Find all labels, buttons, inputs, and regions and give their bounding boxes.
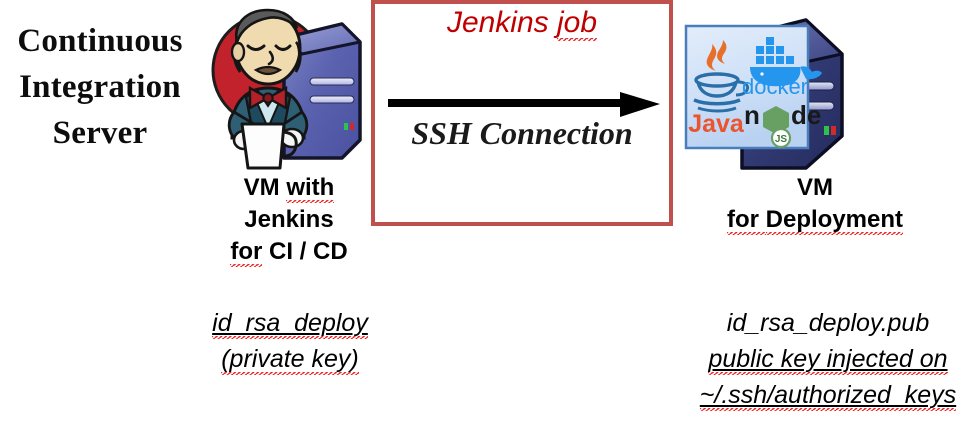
- ci-server-heading: Continuous Integration Server: [0, 18, 200, 156]
- caption-with-text: with: [286, 174, 334, 204]
- ci-heading-line-2: Integration: [0, 64, 200, 110]
- private-key-note-line-2: (private key): [165, 341, 415, 377]
- vm-jenkins-caption: VM with Jenkins for CI / CD: [198, 172, 380, 268]
- private-key-filename: id_rsa_deploy: [212, 309, 368, 340]
- docker-logo-label: docker: [742, 74, 808, 99]
- node-logo-label-n: n: [744, 100, 760, 130]
- ci-heading-line-3: Server: [0, 110, 200, 156]
- public-key-note-line-1: id_rsa_deploy.pub: [678, 305, 978, 341]
- vm-deploy-caption-line-1: VM: [690, 172, 940, 204]
- public-key-note-line-3: ~/.ssh/authorized_keys: [678, 377, 978, 413]
- vm-deployment-caption: VM for Deployment: [690, 172, 940, 236]
- diagram-canvas: Continuous Integration Server: [0, 0, 978, 435]
- caption-vm-text: VM: [244, 174, 287, 201]
- caption-for-text: for: [230, 238, 262, 268]
- private-key-note-line-1: id_rsa_deploy: [165, 305, 415, 341]
- jenkins-job-title-word-2: job: [557, 6, 597, 41]
- public-key-injection-text: public key injected on: [708, 345, 947, 376]
- jenkins-job-title-word-1: Jenkins: [447, 6, 557, 39]
- deployment-vm-server-icon: Java docker n de: [682, 8, 872, 176]
- jenkins-job-title: Jenkins job: [371, 5, 673, 41]
- vm-jenkins-caption-line-3: for CI / CD: [198, 236, 380, 268]
- vm-deploy-caption-line-2: for Deployment: [690, 204, 940, 236]
- authorized-keys-path: ~/.ssh/authorized_keys: [700, 381, 956, 412]
- jenkins-job-box-top-border: [371, 0, 673, 4]
- node-logo-label-js: JS: [775, 134, 788, 145]
- public-key-note: id_rsa_deploy.pub public key injected on…: [678, 305, 978, 413]
- ci-heading-line-1: Continuous: [0, 18, 200, 64]
- private-key-description: (private key): [221, 345, 359, 376]
- jenkins-butler-server-icon: [192, 2, 370, 174]
- caption-deployment-text: Deployment: [766, 206, 903, 236]
- java-logo-label: Java: [688, 110, 745, 138]
- ssh-connection-label: SSH Connection: [371, 113, 673, 153]
- caption-cicd-text: CI / CD: [262, 238, 347, 265]
- vm-jenkins-caption-line-2: Jenkins: [198, 204, 380, 236]
- public-key-note-line-2: public key injected on: [678, 341, 978, 377]
- private-key-note: id_rsa_deploy (private key): [165, 305, 415, 377]
- node-logo-label-de: de: [791, 100, 821, 130]
- vm-jenkins-caption-line-1: VM with: [198, 172, 380, 204]
- caption-for-text-right: for: [727, 206, 766, 236]
